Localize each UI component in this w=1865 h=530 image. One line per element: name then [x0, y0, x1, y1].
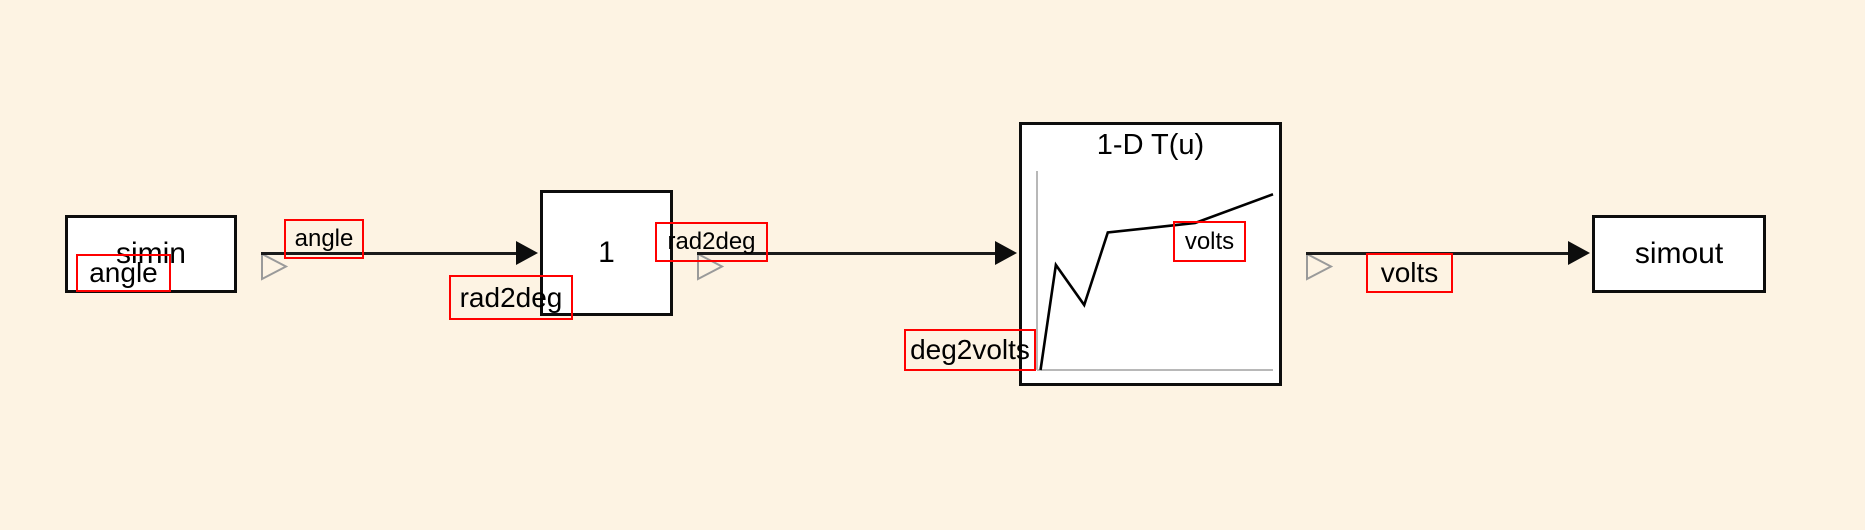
annotation-text: angle [295, 225, 354, 253]
arrowhead-gain-input [516, 241, 538, 265]
annotation-text: deg2volts [910, 334, 1030, 366]
block-simout[interactable]: simout [1592, 215, 1766, 293]
annotation-block-name-deg2volts: deg2volts [904, 329, 1036, 371]
outport-triangle-simin [237, 240, 261, 266]
block-gain-label: 1 [598, 238, 615, 268]
annotation-signal-name-volts: volts [1173, 221, 1246, 262]
annotation-text: rad2deg [460, 282, 563, 314]
annotation-text: angle [89, 257, 158, 289]
annotation-block-name-simin: angle [76, 254, 171, 292]
arrowhead-lookup-input [995, 241, 1017, 265]
annotation-signal-name-angle: angle [284, 219, 364, 259]
block-lookup-title: 1-D T(u) [1022, 129, 1279, 162]
annotation-text: volts [1185, 228, 1234, 256]
annotation-signal-name-rad2deg: rad2deg [655, 222, 768, 262]
annotation-text: rad2deg [667, 228, 755, 256]
annotation-text: volts [1381, 257, 1439, 289]
outport-triangle-lookup [1282, 240, 1306, 266]
annotation-block-name-rad2deg: rad2deg [449, 275, 573, 320]
block-simout-label: simout [1635, 239, 1723, 269]
lookup-table-curve-plot [1028, 171, 1278, 377]
annotation-block-name-volts: volts [1366, 253, 1453, 293]
arrowhead-simout-input [1568, 241, 1590, 265]
diagram-canvas: simin 1 1-D T(u) simout angle rad2deg de… [0, 0, 1865, 530]
